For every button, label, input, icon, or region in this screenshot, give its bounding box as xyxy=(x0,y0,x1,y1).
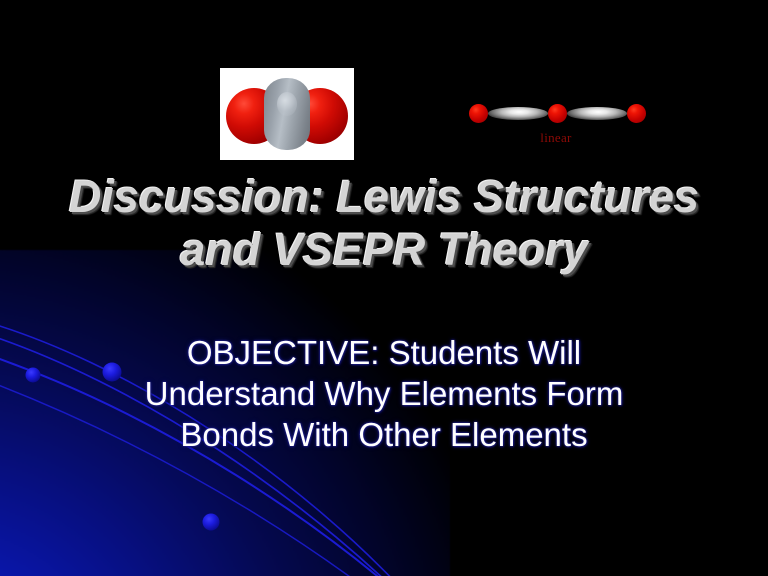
decorative-arcs xyxy=(0,0,768,576)
bond-left xyxy=(488,107,548,120)
slide-title: Discussion: Lewis Structures and VSEPR T… xyxy=(40,170,728,276)
co2-model-image xyxy=(220,68,354,160)
linear-label: linear xyxy=(456,130,656,145)
carbon-atom xyxy=(264,78,310,150)
linear-geometry-image: linear xyxy=(456,96,656,156)
background-decoration xyxy=(0,0,768,576)
bond-right xyxy=(567,107,627,120)
atom-right xyxy=(627,104,646,123)
carbon-highlight xyxy=(277,92,297,116)
atom-left xyxy=(469,104,488,123)
decorative-node xyxy=(26,368,41,383)
atom-center xyxy=(548,104,567,123)
co2-molecule xyxy=(220,68,354,160)
slide-objective-text: OBJECTIVE: Students Will Understand Why … xyxy=(84,332,684,455)
decorative-node xyxy=(203,514,220,531)
presentation-slide: linear Discussion: Lewis Structures and … xyxy=(0,0,768,576)
